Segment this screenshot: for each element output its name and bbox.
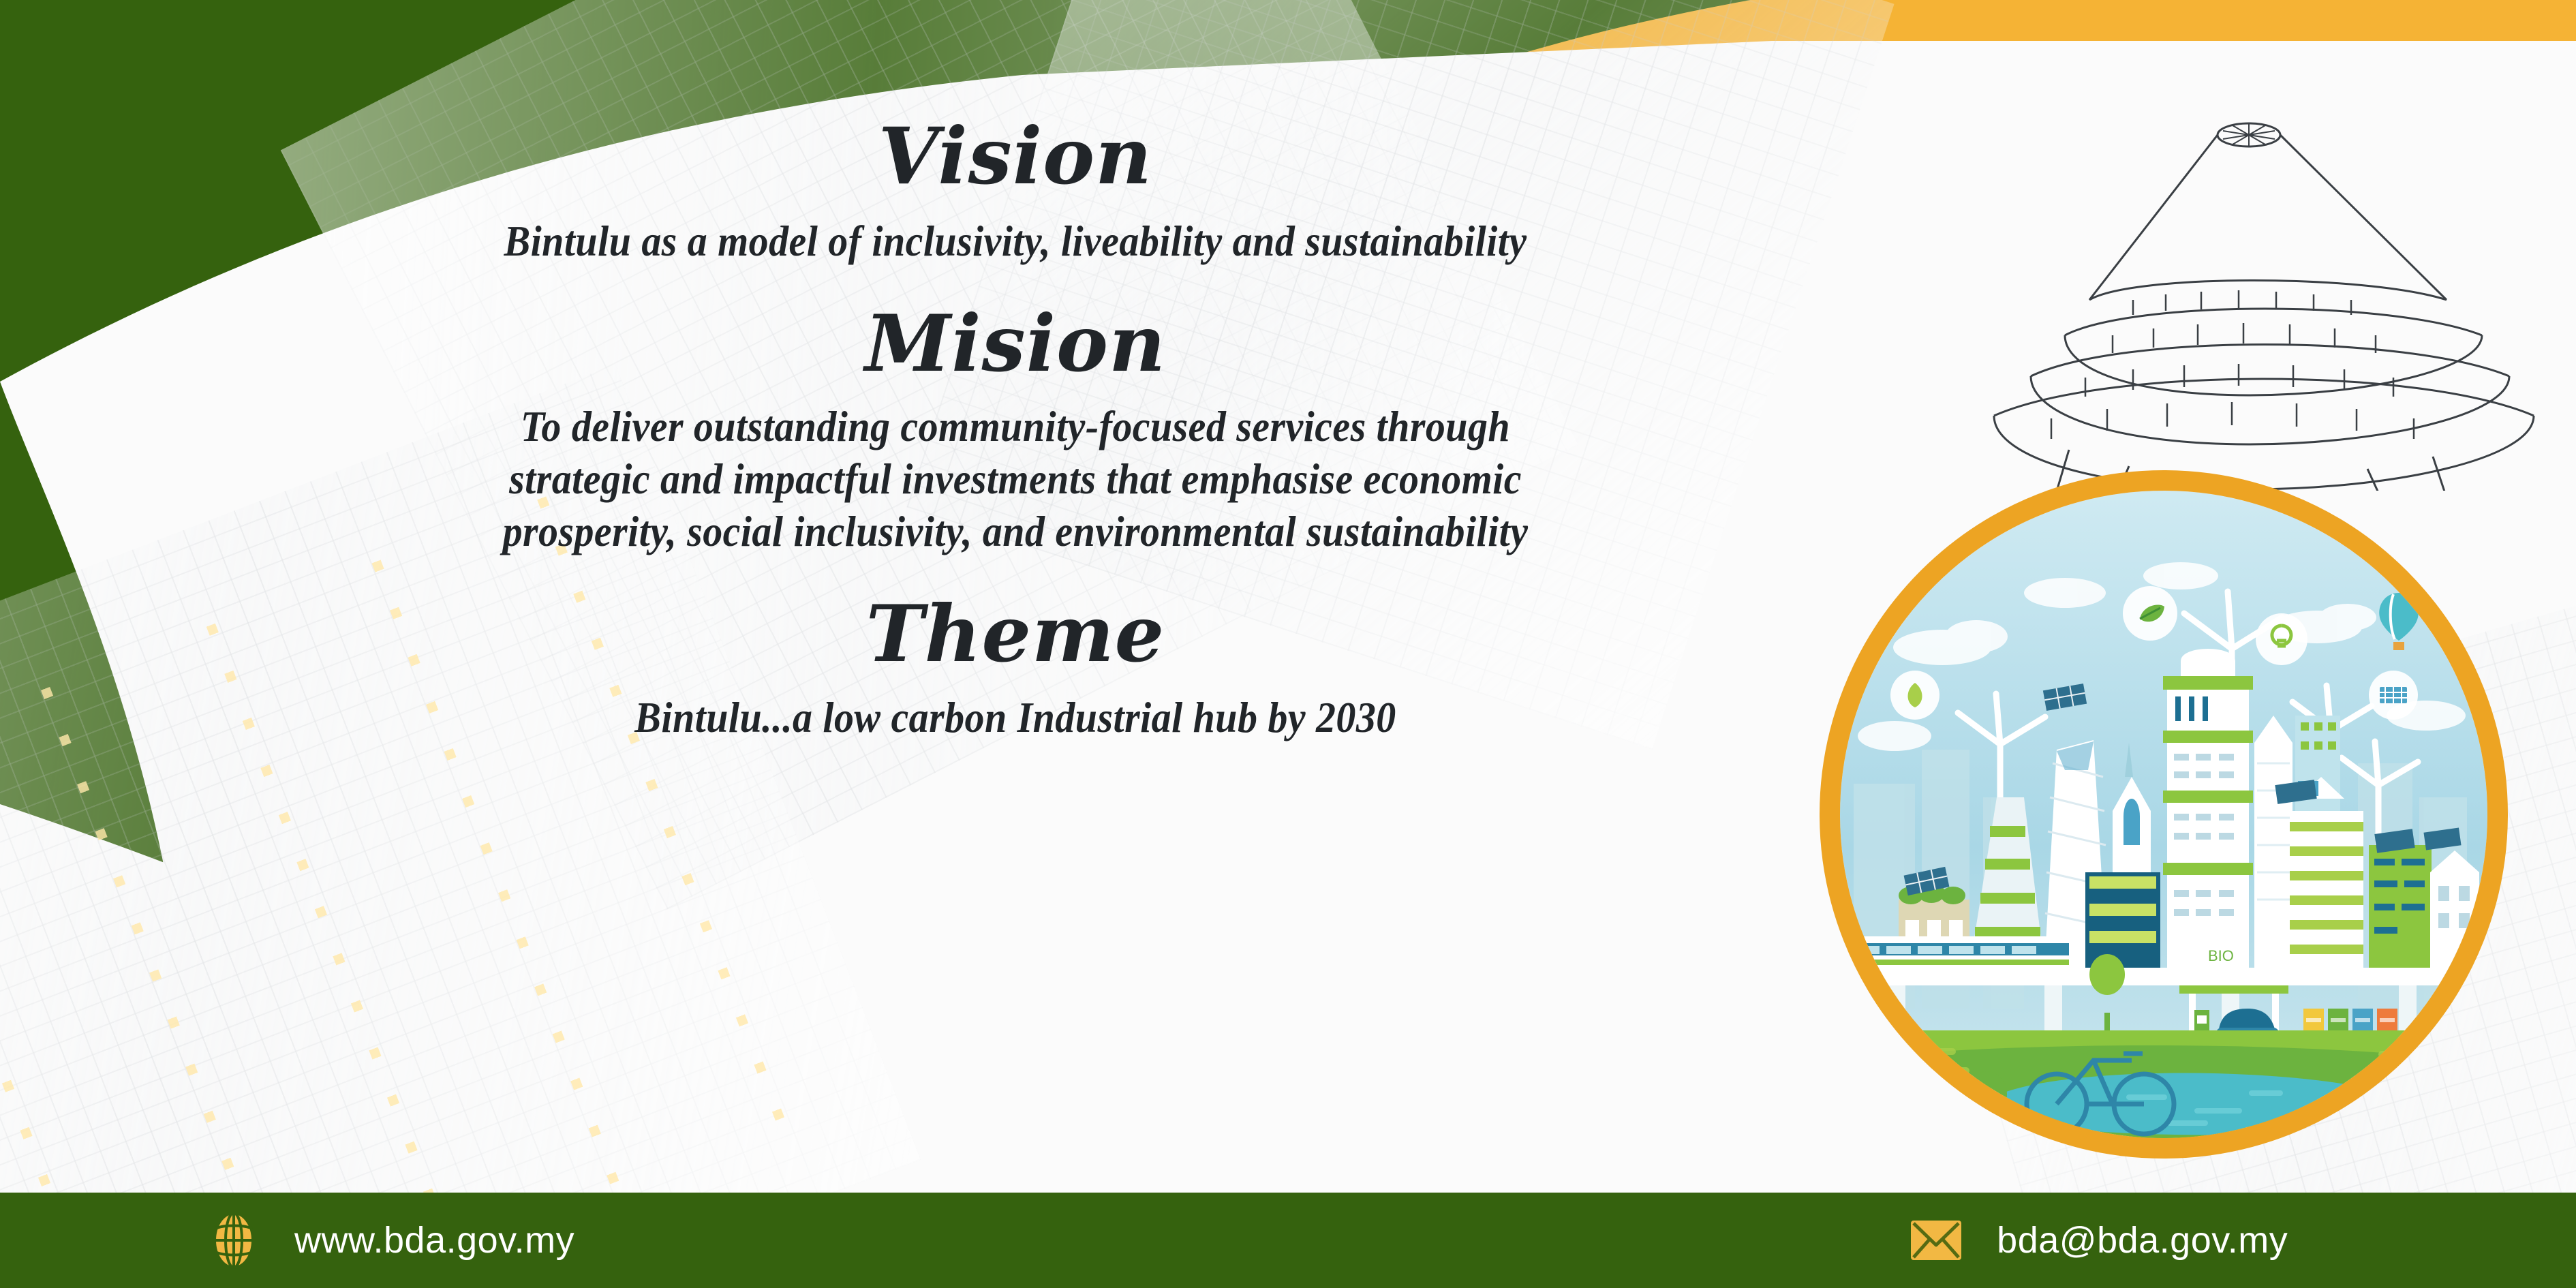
website-label: www.bda.gov.my <box>294 1219 574 1261</box>
theme-section: Theme Bintulu...a low carbon Industrial … <box>204 594 1826 744</box>
vision-heading: Vision <box>204 116 1826 198</box>
mision-line-3: prosperity, social inclusivity, and envi… <box>269 506 1762 558</box>
mision-section: Mision To deliver outstanding community-… <box>204 303 1826 558</box>
theme-line-1: Bintulu...a low carbon Industrial hub by… <box>269 692 1762 744</box>
vision-mision-theme-text: Vision Bintulu as a model of inclusivity… <box>204 116 1826 750</box>
medallion-ring <box>1820 470 2508 1159</box>
vision-line-1: Bintulu as a model of inclusivity, livea… <box>269 215 1762 268</box>
email-label: bda@bda.gov.my <box>1997 1219 2288 1261</box>
envelope-icon <box>1907 1211 1965 1270</box>
mision-line-1: To deliver outstanding community-focused… <box>269 401 1762 453</box>
eco-city-medallion: BIO <box>1820 470 2508 1159</box>
email-contact[interactable]: bda@bda.gov.my <box>1907 1211 2288 1270</box>
bda-vision-mision-theme-banner: BIO <box>0 0 2576 1288</box>
mision-heading: Mision <box>204 303 1826 385</box>
globe-icon <box>204 1211 263 1270</box>
vision-section: Vision Bintulu as a model of inclusivity… <box>204 116 1826 268</box>
mision-line-2: strategic and impactful investments that… <box>269 453 1762 506</box>
contact-footer: www.bda.gov.my bda@bda.gov.my <box>0 1193 2576 1288</box>
theme-heading: Theme <box>204 594 1826 675</box>
website-contact[interactable]: www.bda.gov.my <box>204 1211 574 1270</box>
landmark-dome-icon <box>1929 95 2569 491</box>
